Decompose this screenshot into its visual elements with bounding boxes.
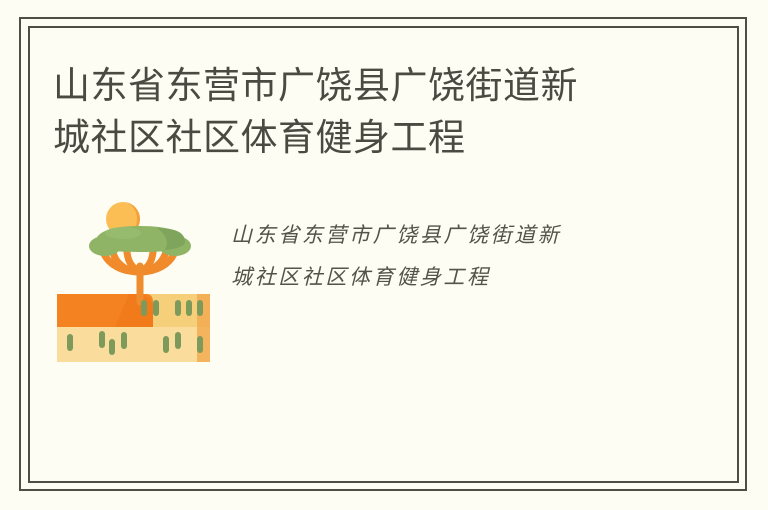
title-line-1: 山东省东营市广饶县广饶街道新 <box>53 60 673 112</box>
title-line-2: 城社区社区体育健身工程 <box>53 112 673 164</box>
savanna-acacia-dunes-illustration <box>45 190 225 370</box>
caption-line-1: 山东省东营市广饶县广饶街道新 <box>231 214 651 256</box>
handwritten-caption: 山东省东营市广饶县广饶街道新 城社区社区体育健身工程 <box>231 214 651 298</box>
caption-line-2: 城社区社区体育健身工程 <box>231 256 651 298</box>
certificate-card: 山东省东营市广饶县广饶街道新 城社区社区体育健身工程 <box>0 0 768 510</box>
acacia-tree <box>89 226 191 302</box>
page-title: 山东省东营市广饶县广饶街道新 城社区社区体育健身工程 <box>53 60 673 164</box>
